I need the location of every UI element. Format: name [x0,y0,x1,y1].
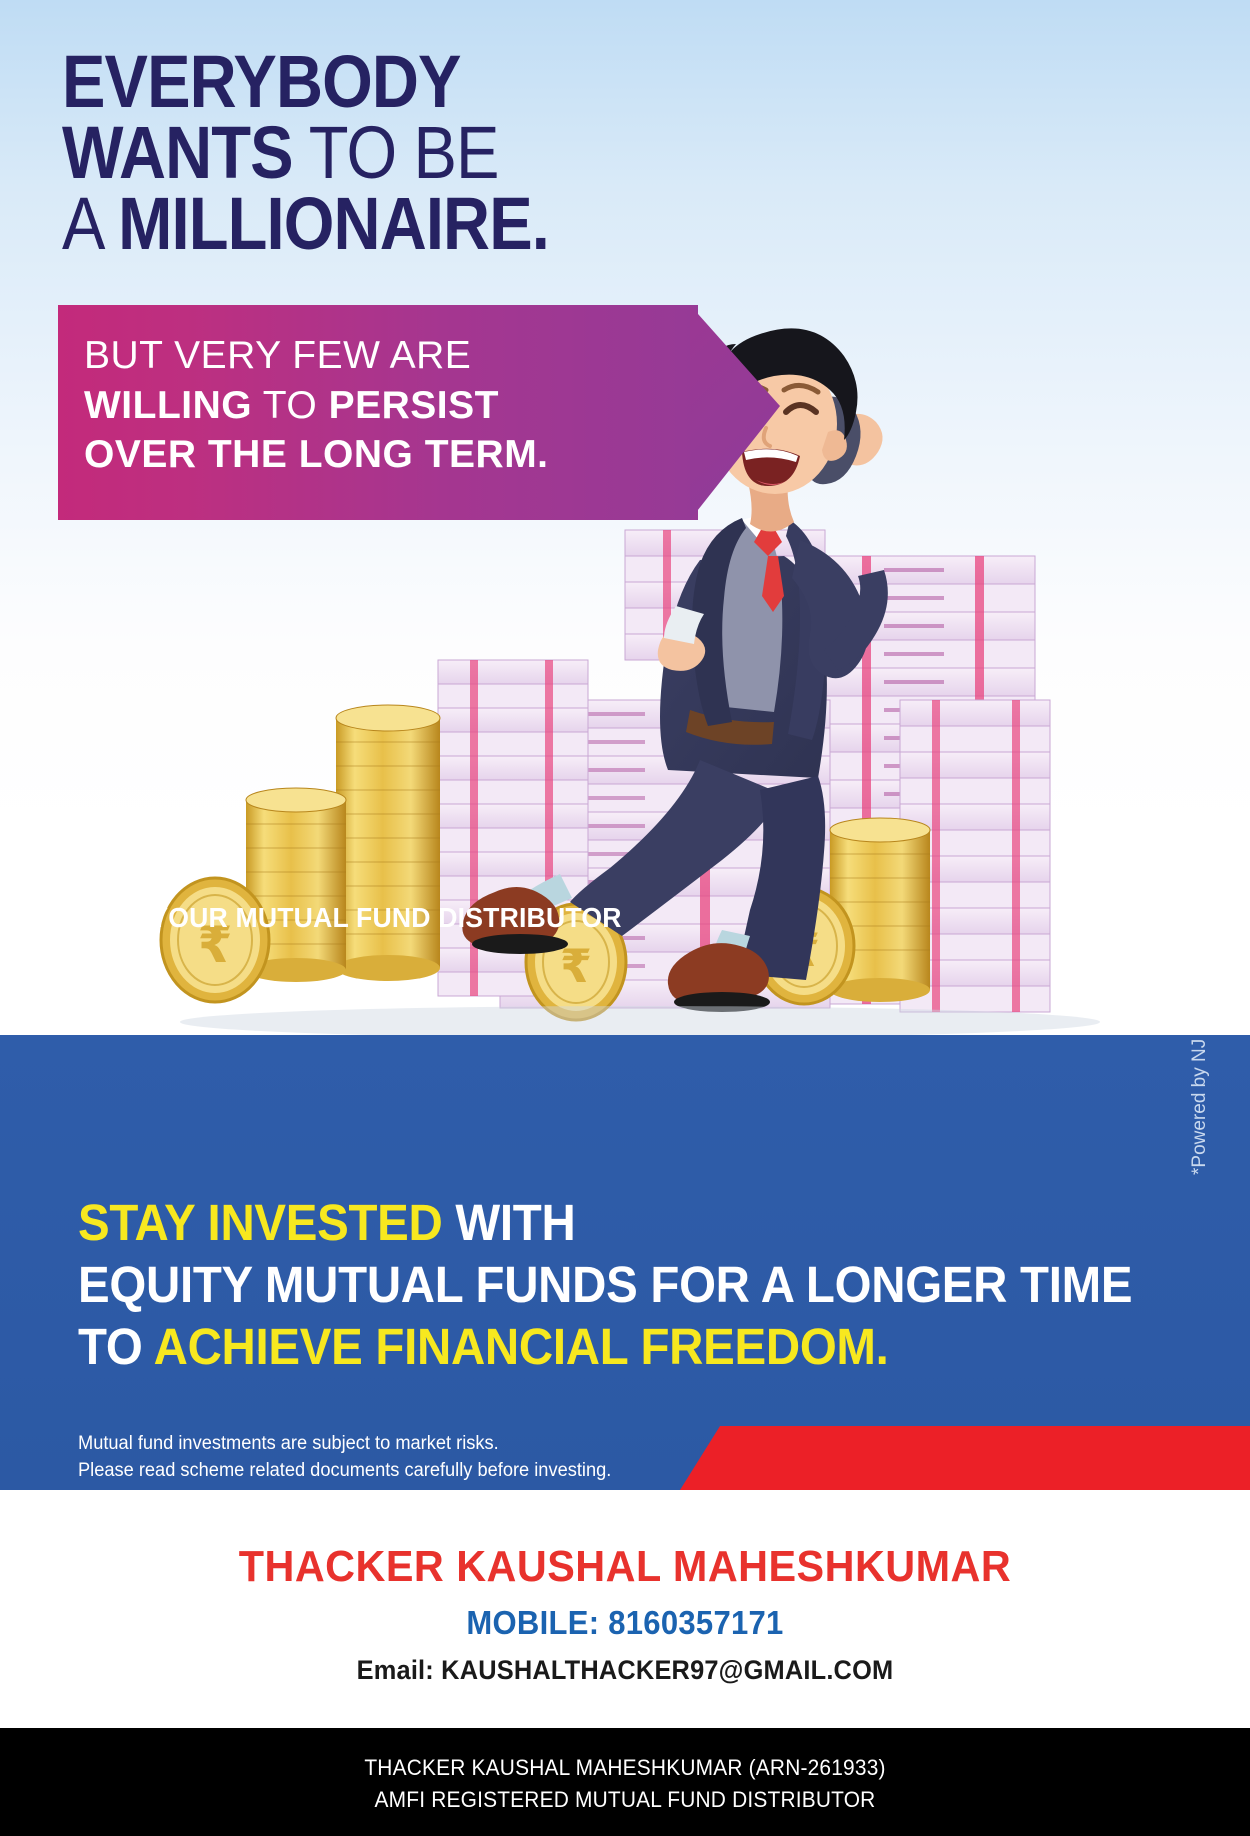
footer-bar: THACKER KAUSHAL MAHESHKUMAR (ARN-261933)… [0,1728,1250,1836]
stay-with: WITH [443,1194,576,1251]
call-distributor-banner[interactable] [680,1426,1250,1490]
headline-millionaire: MILLIONAIRE. [118,182,549,265]
footer-line-1: THACKER KAUSHAL MAHESHKUMAR (ARN-261933) [31,1752,1219,1784]
callout-line-3: OVER THE LONG TERM. [84,430,684,480]
contact-section: THACKER KAUSHAL MAHESHKUMAR MOBILE: 8160… [0,1490,1250,1728]
callout-text: BUT VERY FEW ARE WILLING TO PERSIST OVER… [84,331,684,480]
call-distributor-label[interactable]: CALL YOUR MUTUAL FUND DISTRIBUTOR [72,902,622,934]
stay-invested-message: STAY INVESTED WITH EQUITY MUTUAL FUNDS F… [78,1192,1064,1379]
page-title: EVERYBODY WANTS TO BE A MILLIONAIRE. [62,46,643,259]
financial-freedom-highlight: ACHIEVE FINANCIAL FREEDOM. [154,1318,889,1375]
arrow-head-icon [690,305,780,520]
risk-disclaimer: Mutual fund investments are subject to m… [78,1431,611,1485]
footer-line-2: AMFI REGISTERED MUTUAL FUND DISTRIBUTOR [31,1784,1219,1816]
callout-persist: PERSIST [329,384,499,427]
headline-line-3: A MILLIONAIRE. [62,188,643,259]
callout-line-2: WILLING TO PERSIST [84,381,684,431]
distributor-name: THACKER KAUSHAL MAHESHKUMAR [38,1542,1213,1592]
stay-to: TO [78,1318,154,1375]
powered-by-label: *Powered by NJ [1189,1039,1211,1175]
disclaimer-line-1: Mutual fund investments are subject to m… [78,1431,611,1458]
distributor-mobile[interactable]: MOBILE: 8160357171 [38,1604,1213,1642]
stay-invested-highlight: STAY INVESTED [78,1194,443,1251]
callout-longterm: OVER THE LONG TERM. [84,433,549,476]
stay-line-2: EQUITY MUTUAL FUNDS FOR A LONGER TIME [78,1254,1064,1316]
headline-line-2: WANTS TO BE [62,117,643,188]
poster-root: EVERYBODY WANTS TO BE A MILLIONAIRE. [0,0,1250,1836]
stay-line-3: TO ACHIEVE FINANCIAL FREEDOM. [78,1316,1064,1378]
distributor-email[interactable]: Email: KAUSHALTHACKER97@GMAIL.COM [38,1655,1213,1686]
persist-callout-banner: BUT VERY FEW ARE WILLING TO PERSIST OVER… [58,305,778,520]
headline-a: A [62,182,118,265]
callout-line-1: BUT VERY FEW ARE [84,331,684,381]
callout-to: TO [252,384,328,427]
disclaimer-line-2: Please read scheme related documents car… [78,1458,611,1485]
callout-willing: WILLING [84,384,252,427]
headline-line-1: EVERYBODY [62,46,643,117]
stay-line-1: STAY INVESTED WITH [78,1192,1064,1254]
